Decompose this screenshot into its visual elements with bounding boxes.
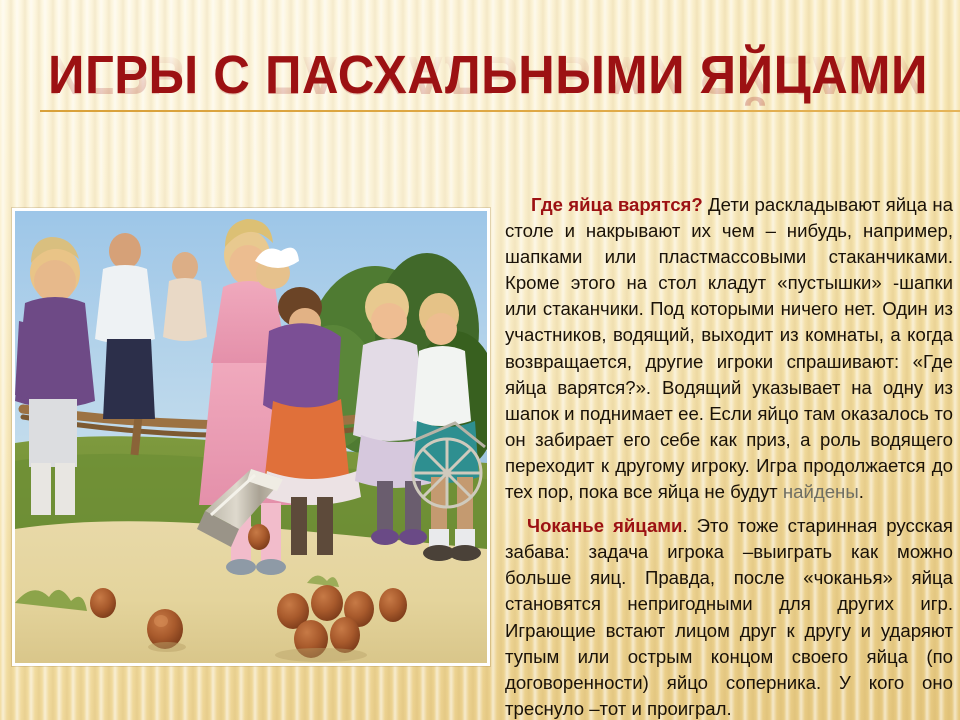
paragraph-tail-1: . bbox=[859, 481, 864, 502]
paragraph-text-1: Дети раскладывают яйца на столе и накрыв… bbox=[505, 194, 953, 502]
page-title: Игры с пасхальными яйцами bbox=[48, 44, 928, 106]
paragraph-lead-2: Чоканье яйцами bbox=[527, 515, 682, 536]
photo-illustration bbox=[15, 211, 487, 663]
slide-title-block: Игры с пасхальными яйцами Игры с пасхаль… bbox=[0, 44, 960, 164]
presentation-slide: Игры с пасхальными яйцами Игры с пасхаль… bbox=[0, 0, 960, 720]
paragraph-text-2: . Это тоже старинная русская забава: зад… bbox=[505, 515, 953, 719]
slide-body-text: Где яйца варятся? Дети раскладывают яйца… bbox=[505, 192, 953, 720]
paragraph-lead-1: Где яйца варятся? bbox=[531, 194, 703, 215]
paragraph-egg-tapping: Чоканье яйцами. Это тоже старинная русск… bbox=[505, 513, 953, 720]
paragraph-where-eggs-boil: Где яйца варятся? Дети раскладывают яйца… bbox=[505, 192, 953, 505]
photo-frame bbox=[12, 208, 490, 666]
title-underline-rule bbox=[40, 110, 960, 112]
paragraph-muted-word-1: найдены bbox=[783, 481, 859, 502]
photo-children-egg-rolling bbox=[15, 211, 487, 663]
